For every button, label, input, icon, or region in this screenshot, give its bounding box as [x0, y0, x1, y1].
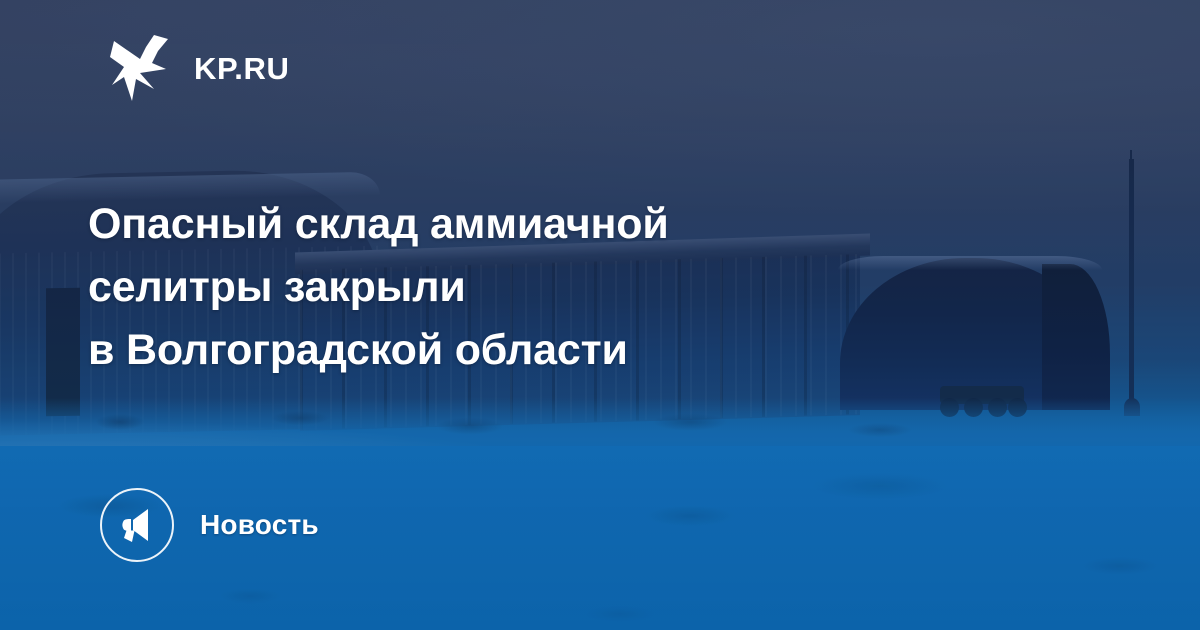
- status-badge-label: Новость: [200, 509, 319, 541]
- status-badge: Новость: [100, 488, 319, 562]
- brand-lockup[interactable]: KP.RU: [110, 33, 289, 103]
- headline-line-3: в Волгоградской области: [88, 319, 988, 382]
- card-content: KP.RU Опасный склад аммиачной селитры за…: [0, 0, 1200, 630]
- megaphone-icon: [118, 506, 156, 544]
- page-title: Опасный склад аммиачной селитры закрыли …: [88, 193, 988, 382]
- headline-line-2: селитры закрыли: [88, 256, 988, 319]
- swallow-bird-icon: [110, 33, 172, 103]
- headline-line-1: Опасный склад аммиачной: [88, 193, 988, 256]
- badge-icon-circle: [100, 488, 174, 562]
- brand-name: KP.RU: [194, 53, 289, 84]
- news-share-card: KP.RU Опасный склад аммиачной селитры за…: [0, 0, 1200, 630]
